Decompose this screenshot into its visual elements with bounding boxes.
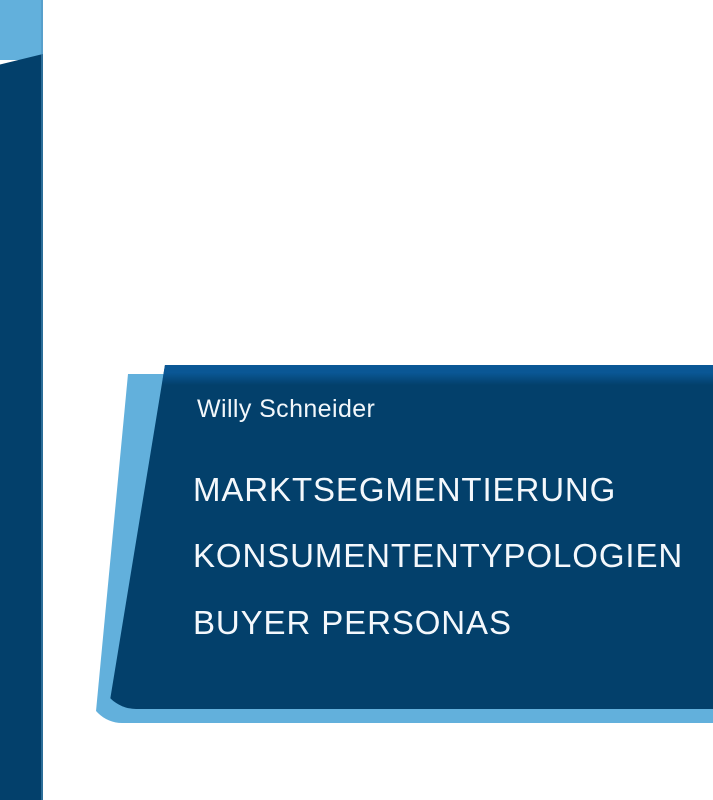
spine-edge-line (41, 0, 43, 800)
title-line-3: BUYER PERSONAS (193, 604, 512, 642)
spine-strip-light (0, 0, 43, 60)
title-line-2: KONSUMENTENTYPOLOGIEN (193, 537, 683, 575)
title-line-1: MARKTSEGMENTIERUNG (193, 471, 616, 509)
author-name: Willy Schneider (197, 395, 375, 424)
card-top-sheen (100, 365, 713, 385)
spine-strip-dark (0, 54, 43, 800)
book-cover: Willy Schneider MARKTSEGMENTIERUNG KONSU… (0, 0, 713, 800)
